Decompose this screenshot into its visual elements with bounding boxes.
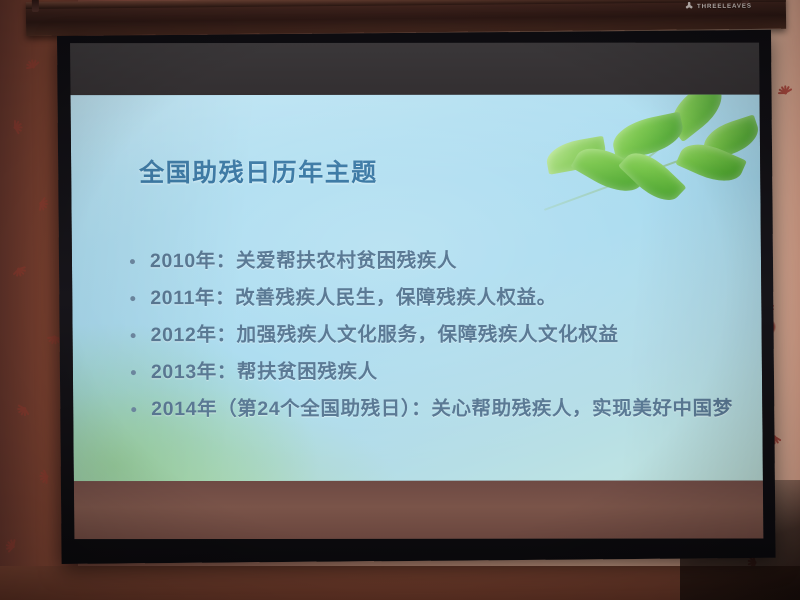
- leaf-branch-decoration: [515, 95, 762, 231]
- letterbox-band-top: [70, 43, 759, 96]
- slide-bullet-item: 2010年：关爱帮扶农村贫困残疾人: [128, 247, 737, 276]
- bullet-dot-icon: [131, 370, 136, 375]
- slide-bullet-text: 2014年（第24个全国助残日）：关心帮助残疾人，实现美好中国梦: [151, 398, 733, 421]
- projection-screen: 全国助残日历年主题 2010年：关爱帮扶农村贫困残疾人2011年：改善残疾人民生…: [57, 30, 776, 564]
- casing-bracket-left: [32, 0, 39, 12]
- presentation-slide: 全国助残日历年主题 2010年：关爱帮扶农村贫困残疾人2011年：改善残疾人民生…: [71, 95, 763, 482]
- slide-bullet-text: 2011年：改善残疾人民生，保障残疾人权益。: [150, 287, 557, 309]
- letterbox-band-bottom: [74, 481, 764, 540]
- bullet-dot-icon: [130, 296, 135, 301]
- slide-title: 全国助残日历年主题: [139, 153, 378, 189]
- slide-bullet-list: 2010年：关爱帮扶农村贫困残疾人2011年：改善残疾人民生，保障残疾人权益。2…: [128, 247, 739, 433]
- bullet-dot-icon: [131, 407, 136, 412]
- bullet-dot-icon: [130, 259, 135, 264]
- slide-bullet-item: 2013年：帮扶贫困残疾人: [129, 358, 738, 387]
- screen-surface: 全国助残日历年主题 2010年：关爱帮扶农村贫困残疾人2011年：改善残疾人民生…: [70, 43, 763, 540]
- slide-bullet-item: 2014年（第24个全国助残日）：关心帮助残疾人，实现美好中国梦: [129, 395, 738, 424]
- screen-brand-logo: THREELEAVES: [685, 1, 752, 10]
- leaf-3: [609, 112, 687, 161]
- bullet-dot-icon: [131, 333, 136, 338]
- casing-lip: [26, 0, 786, 9]
- brand-label: THREELEAVES: [697, 1, 752, 9]
- slide-bullet-item: 2012年：加强残疾人文化服务，保障残疾人文化权益: [128, 321, 737, 350]
- trefoil-logo-icon: [685, 2, 694, 10]
- slide-bullet-text: 2010年：关爱帮扶农村贫困残疾人: [150, 250, 457, 272]
- slide-bullet-text: 2013年：帮扶贫困残疾人: [151, 361, 378, 383]
- slide-bullet-text: 2012年：加强残疾人文化服务，保障残疾人文化权益: [151, 324, 619, 346]
- slide-bullet-item: 2011年：改善残疾人民生，保障残疾人权益。: [128, 284, 737, 313]
